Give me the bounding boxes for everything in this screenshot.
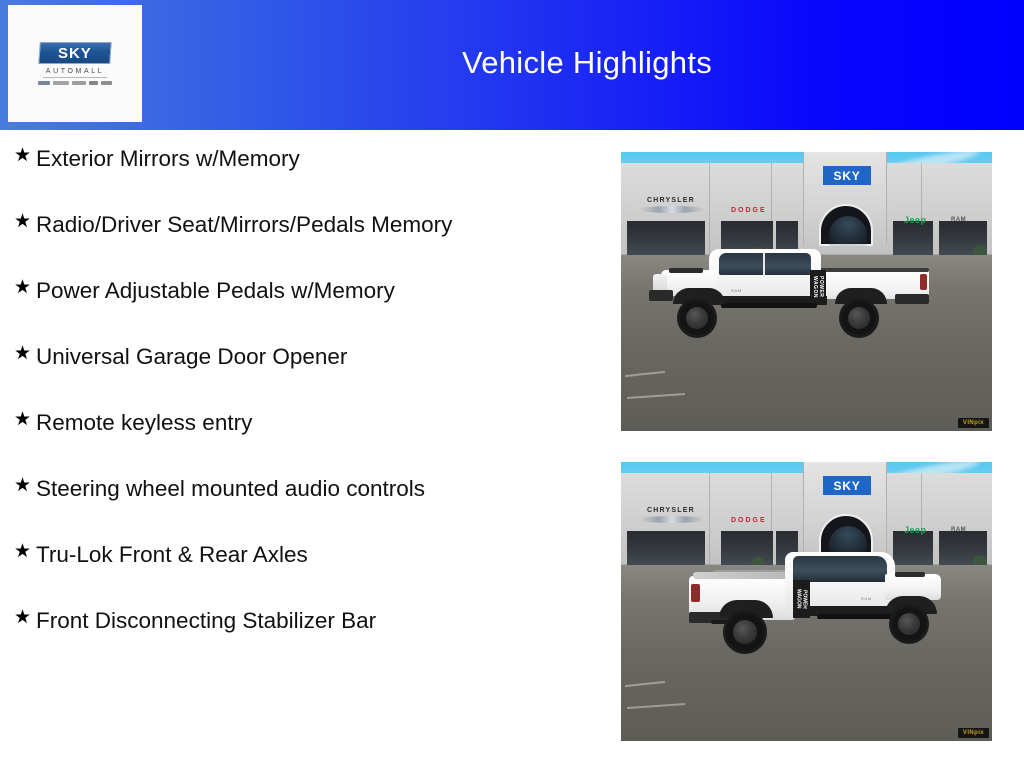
list-item: ★ Exterior Mirrors w/Memory bbox=[10, 142, 610, 176]
star-icon: ★ bbox=[10, 538, 36, 565]
truck-bed-rail bbox=[693, 572, 797, 579]
slide-header: SKY AUTOMALL Vehicle Highlights bbox=[0, 0, 1024, 130]
page-title: Vehicle Highlights bbox=[150, 0, 1024, 130]
feature-list: ★ Exterior Mirrors w/Memory ★ Radio/Driv… bbox=[10, 142, 610, 670]
feature-label: Universal Garage Door Opener bbox=[36, 340, 347, 374]
truck-windows bbox=[719, 253, 811, 275]
vehicle-photo-rear[interactable]: CHRYSLER DODGE Jeep RAM SKY bbox=[621, 462, 992, 741]
brand-marks-row bbox=[38, 81, 112, 85]
star-icon: ★ bbox=[10, 142, 36, 169]
feature-label: Power Adjustable Pedals w/Memory bbox=[36, 274, 395, 308]
power-wagon-decal: POWER WAGON bbox=[810, 270, 826, 303]
jeep-brand-mark bbox=[89, 81, 98, 85]
vehicle-photo-side[interactable]: CHRYSLER DODGE Jeep RAM SKY bbox=[621, 152, 992, 431]
list-item: ★ Front Disconnecting Stabilizer Bar bbox=[10, 604, 610, 638]
hood-scoop bbox=[895, 572, 925, 577]
ram-badge: RAM bbox=[861, 596, 872, 601]
logo-divider bbox=[43, 77, 107, 78]
ram-sign: RAM bbox=[951, 527, 966, 533]
jeep-sign: Jeep bbox=[904, 525, 927, 535]
star-icon: ★ bbox=[10, 406, 36, 433]
arch-glass bbox=[829, 216, 867, 246]
fiat-brand-mark bbox=[101, 81, 112, 85]
dodge-sign: DODGE bbox=[731, 517, 767, 524]
lot-stripe bbox=[627, 703, 685, 709]
chrysler-brand-mark bbox=[38, 81, 50, 85]
rear-bumper bbox=[895, 294, 929, 304]
list-item: ★ Remote keyless entry bbox=[10, 406, 610, 440]
ram-brand-mark bbox=[72, 81, 86, 85]
wheel-rim bbox=[686, 307, 708, 329]
feature-label: Steering wheel mounted audio controls bbox=[36, 472, 425, 506]
photo-watermark: VINpix bbox=[958, 418, 989, 428]
chrysler-wing-icon bbox=[639, 516, 705, 523]
truck-windows bbox=[793, 556, 887, 582]
star-icon: ★ bbox=[10, 274, 36, 301]
tail-light bbox=[920, 274, 927, 290]
feature-label: Tru-Lok Front & Rear Axles bbox=[36, 538, 308, 572]
truck-rear-three-quarter: POWER WAGON RAM bbox=[689, 544, 949, 654]
sky-sign: SKY bbox=[823, 166, 871, 185]
feature-label: Radio/Driver Seat/Mirrors/Pedals Memory bbox=[36, 208, 452, 242]
feature-label: Front Disconnecting Stabilizer Bar bbox=[36, 604, 376, 638]
dodge-sign: DODGE bbox=[731, 207, 767, 214]
dealer-logo: SKY AUTOMALL bbox=[8, 5, 142, 122]
automall-logo-subtitle: AUTOMALL bbox=[46, 68, 104, 75]
list-item: ★ Steering wheel mounted audio controls bbox=[10, 472, 610, 506]
wheel-rim bbox=[848, 307, 870, 329]
ram-badge: RAM bbox=[731, 288, 742, 293]
window-pillar bbox=[763, 253, 765, 275]
running-board bbox=[721, 303, 817, 308]
rear-wheel bbox=[839, 298, 879, 338]
sky-sign: SKY bbox=[823, 476, 871, 495]
truck-side-profile: POWER WAGON RAM bbox=[647, 244, 929, 339]
ram-sign: RAM bbox=[951, 217, 966, 223]
feature-label: Exterior Mirrors w/Memory bbox=[36, 142, 300, 176]
feature-label: Remote keyless entry bbox=[36, 406, 252, 440]
vehicle-highlights-slide: SKY AUTOMALL Vehicle Highlights ★ Exteri… bbox=[0, 0, 1024, 768]
front-wheel bbox=[677, 298, 717, 338]
lot-stripe bbox=[627, 393, 685, 399]
rear-wheel bbox=[723, 610, 767, 654]
wheel-rim bbox=[898, 613, 920, 635]
chrysler-wing-icon bbox=[639, 206, 705, 213]
star-icon: ★ bbox=[10, 604, 36, 631]
star-icon: ★ bbox=[10, 208, 36, 235]
wheel-rim bbox=[733, 620, 757, 644]
slide-body: ★ Exterior Mirrors w/Memory ★ Radio/Driv… bbox=[0, 130, 1024, 768]
list-item: ★ Radio/Driver Seat/Mirrors/Pedals Memor… bbox=[10, 208, 610, 242]
truck-bed-rail bbox=[815, 268, 929, 272]
front-wheel bbox=[889, 604, 929, 644]
sky-logo-text: SKY bbox=[58, 45, 92, 62]
tail-light bbox=[691, 584, 700, 602]
front-bumper bbox=[649, 290, 673, 301]
sky-logo-mark: SKY bbox=[38, 42, 112, 64]
chrysler-sign: CHRYSLER bbox=[647, 507, 695, 514]
list-item: ★ Universal Garage Door Opener bbox=[10, 340, 610, 374]
dodge-brand-mark bbox=[53, 81, 69, 85]
lot-stripe bbox=[625, 681, 665, 687]
building-seam bbox=[709, 163, 710, 254]
jeep-sign: Jeep bbox=[904, 215, 927, 225]
chrysler-sign: CHRYSLER bbox=[647, 197, 695, 204]
lot-stripe bbox=[625, 371, 665, 377]
hood-scoop bbox=[669, 268, 703, 273]
star-icon: ★ bbox=[10, 472, 36, 499]
photo-watermark: VINpix bbox=[958, 728, 989, 738]
star-icon: ★ bbox=[10, 340, 36, 367]
list-item: ★ Power Adjustable Pedals w/Memory bbox=[10, 274, 610, 308]
list-item: ★ Tru-Lok Front & Rear Axles bbox=[10, 538, 610, 572]
